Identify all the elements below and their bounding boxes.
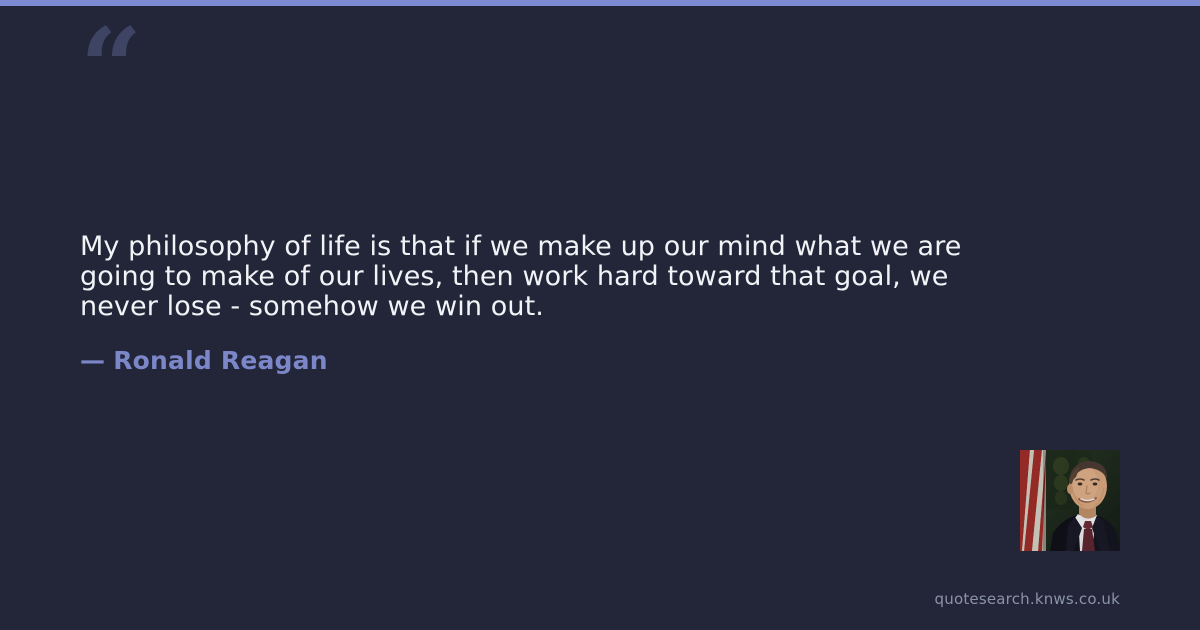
quote-text: My philosophy of life is that if we make… (80, 232, 970, 322)
quote-attribution: —Ronald Reagan (80, 346, 328, 375)
quote-card: “ My philosophy of life is that if we ma… (0, 0, 1200, 630)
quotation-mark-icon: “ (80, 14, 140, 122)
top-accent-bar (0, 0, 1200, 6)
attribution-dash: — (80, 346, 105, 375)
author-portrait (1020, 450, 1120, 551)
portrait-illustration (1020, 450, 1120, 551)
site-watermark: quotesearch.knws.co.uk (935, 590, 1120, 608)
author-name: Ronald Reagan (113, 346, 328, 375)
